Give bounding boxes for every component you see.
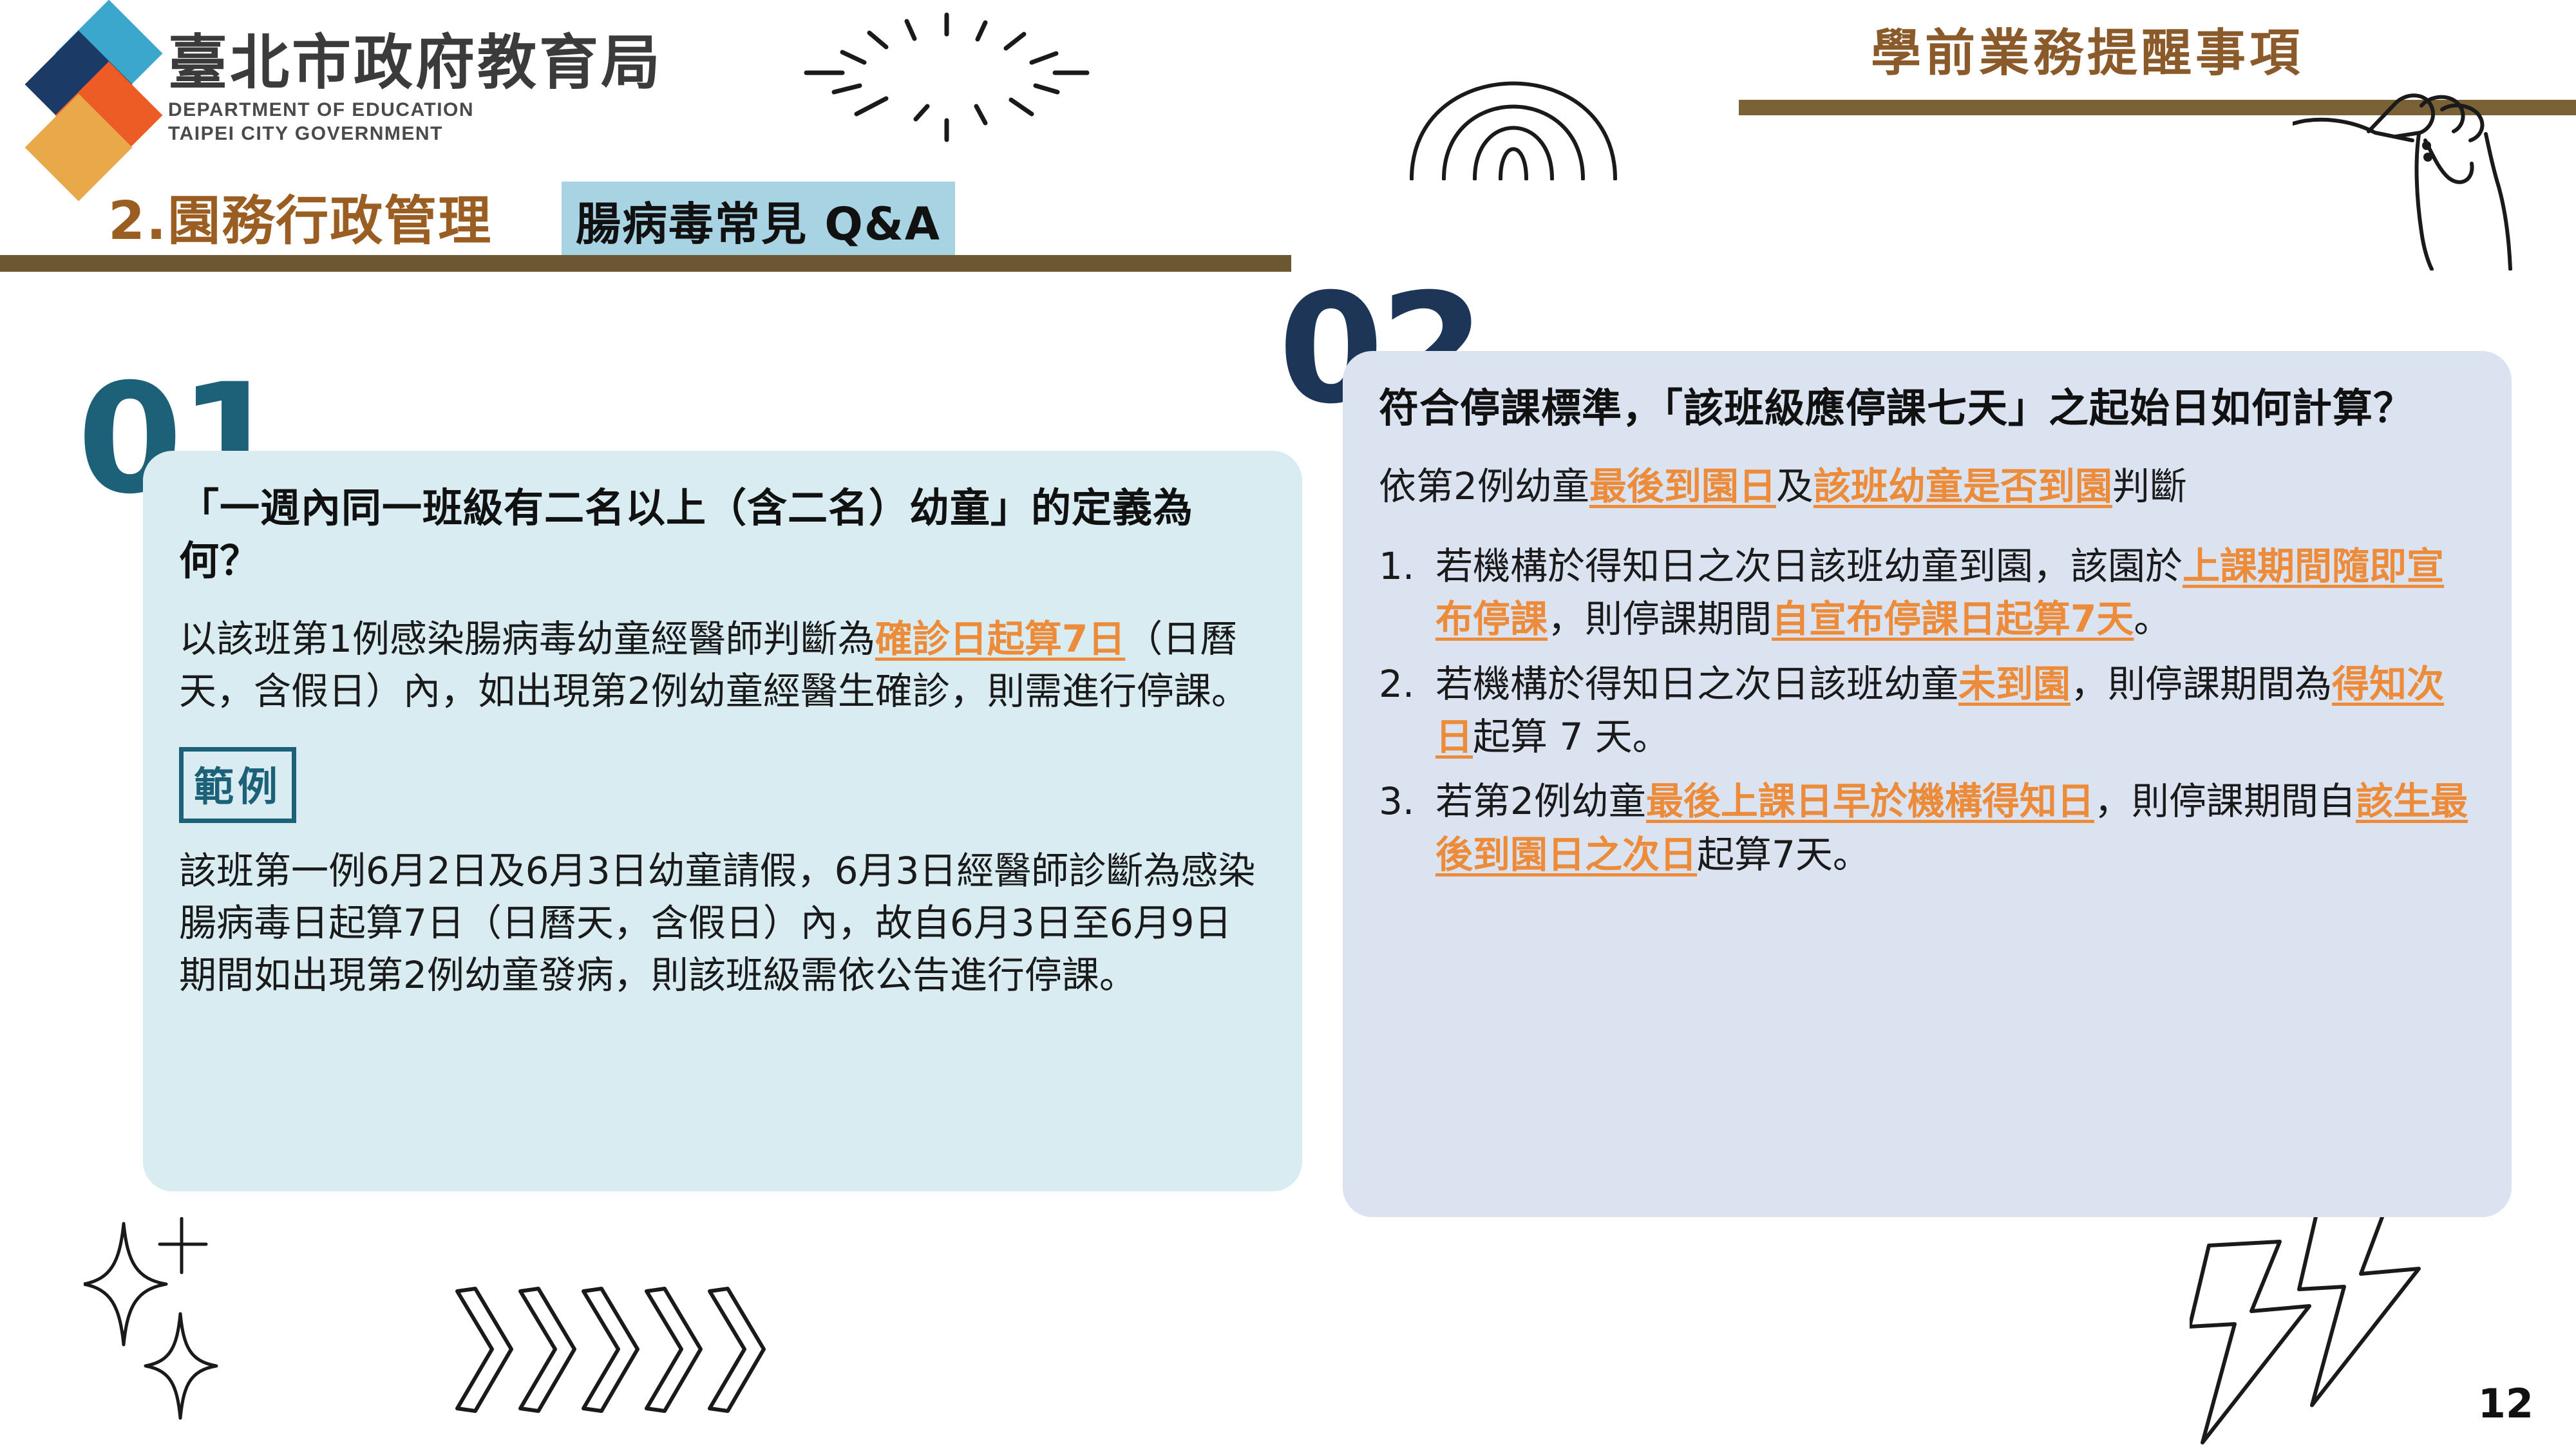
answer-part: 以該班第1例感染腸病毒幼童經醫師判斷為 bbox=[179, 617, 875, 661]
qa-badge: 腸病毒常見 Q&A bbox=[562, 182, 955, 262]
list-part: 若第2例幼童 bbox=[1435, 779, 1646, 823]
list-highlight: 最後上課日早於機構得知日 bbox=[1646, 779, 2094, 823]
page-number: 12 bbox=[2478, 1380, 2533, 1427]
intro-part: 依第2例幼童 bbox=[1379, 464, 1589, 508]
answer-body-01: 以該班第1例感染腸病毒幼童經醫師判斷為確診日起算7日（日曆天，含假日）內，如出現… bbox=[179, 613, 1266, 717]
list-marker: 3. bbox=[1379, 775, 1419, 881]
sparkles-icon bbox=[84, 1217, 296, 1436]
list-part: ，則停課期間為 bbox=[2070, 662, 2332, 706]
qa-card-02: 符合停課標準，「該班級應停課七天」之起始日如何計算？ 依第2例幼童最後到園日及該… bbox=[1343, 351, 2512, 1217]
list-part: 若機構於得知日之次日該班幼童 bbox=[1435, 662, 1958, 706]
department-logo: 臺北市政府教育局 DEPARTMENT OF EDUCATION TAIPEI … bbox=[39, 13, 663, 164]
intro-highlight: 最後到園日 bbox=[1589, 464, 1776, 508]
header-rule-right bbox=[1739, 100, 2576, 115]
list-part: 起算 7 天。 bbox=[1473, 715, 1670, 759]
rules-list-02: 1. 若機構於得知日之次日該班幼童到園，該園於上課期間隨即宣布停課，則停課期間自… bbox=[1379, 540, 2476, 881]
question-title-01: 「一週內同一班級有二名以上（含二名）幼童」的定義為何？ bbox=[179, 482, 1266, 587]
slide-canvas: 臺北市政府教育局 DEPARTMENT OF EDUCATION TAIPEI … bbox=[0, 0, 2576, 1449]
topic-title: 學前業務提醒事項 bbox=[1871, 13, 2304, 85]
list-text: 若機構於得知日之次日該班幼童到園，該園於上課期間隨即宣布停課，則停課期間自宣布停… bbox=[1435, 540, 2476, 646]
logo-english-line2: TAIPEI CITY GOVERNMENT bbox=[168, 124, 663, 144]
intro-body-02: 依第2例幼童最後到園日及該班幼童是否到園判斷 bbox=[1379, 460, 2476, 513]
chevron-arrows-icon bbox=[451, 1285, 786, 1426]
taipei-logo-icon bbox=[39, 13, 151, 164]
list-part: 若機構於得知日之次日該班幼童到園，該園於 bbox=[1435, 544, 2183, 588]
list-marker: 1. bbox=[1379, 540, 1419, 646]
list-highlight: 未到園 bbox=[1958, 662, 2070, 706]
header-rule-left bbox=[0, 255, 1291, 272]
list-highlight: 自宣布停課日起算7天 bbox=[1772, 597, 2134, 641]
list-text: 若機構於得知日之次日該班幼童未到園，則停課期間為得知次日起算 7 天。 bbox=[1435, 658, 2476, 764]
question-title-02: 符合停課標準，「該班級應停課七天」之起始日如何計算？ bbox=[1379, 382, 2476, 435]
list-part: 。 bbox=[2134, 597, 2171, 641]
intro-highlight: 該班幼童是否到園 bbox=[1814, 464, 2112, 508]
list-item: 1. 若機構於得知日之次日該班幼童到園，該園於上課期間隨即宣布停課，則停課期間自… bbox=[1379, 540, 2476, 646]
example-badge-01: 範例 bbox=[179, 747, 296, 823]
section-title: 2.園務行政管理 bbox=[108, 178, 492, 254]
hand-holding-pencil-icon bbox=[2293, 64, 2576, 270]
sunburst-icon bbox=[766, 3, 1127, 151]
qa-card-01: 「一週內同一班級有二名以上（含二名）幼童」的定義為何？ 以該班第1例感染腸病毒幼… bbox=[143, 451, 1302, 1191]
lightning-bolts-icon bbox=[2190, 1198, 2460, 1449]
list-item: 3. 若第2例幼童最後上課日早於機構得知日，則停課期間自該生最後到園日之次日起算… bbox=[1379, 775, 2476, 881]
list-part: ，則停課期間 bbox=[1548, 597, 1772, 641]
list-marker: 2. bbox=[1379, 658, 1419, 764]
list-part: 起算7天。 bbox=[1697, 833, 1870, 876]
list-part: ，則停課期間自 bbox=[2094, 779, 2356, 823]
rainbow-arcs-icon bbox=[1397, 26, 1629, 180]
answer-highlight: 確診日起算7日 bbox=[875, 617, 1125, 661]
intro-part: 判斷 bbox=[2112, 464, 2187, 508]
example-text-01: 該班第一例6月2日及6月3日幼童請假，6月3日經醫師診斷為感染腸病毒日起算7日（… bbox=[179, 845, 1266, 1002]
intro-part: 及 bbox=[1776, 464, 1814, 508]
list-item: 2. 若機構於得知日之次日該班幼童未到園，則停課期間為得知次日起算 7 天。 bbox=[1379, 658, 2476, 764]
list-text: 若第2例幼童最後上課日早於機構得知日，則停課期間自該生最後到園日之次日起算7天。 bbox=[1435, 775, 2476, 881]
logo-english-line1: DEPARTMENT OF EDUCATION bbox=[168, 100, 663, 120]
logo-chinese-name: 臺北市政府教育局 bbox=[168, 33, 663, 93]
